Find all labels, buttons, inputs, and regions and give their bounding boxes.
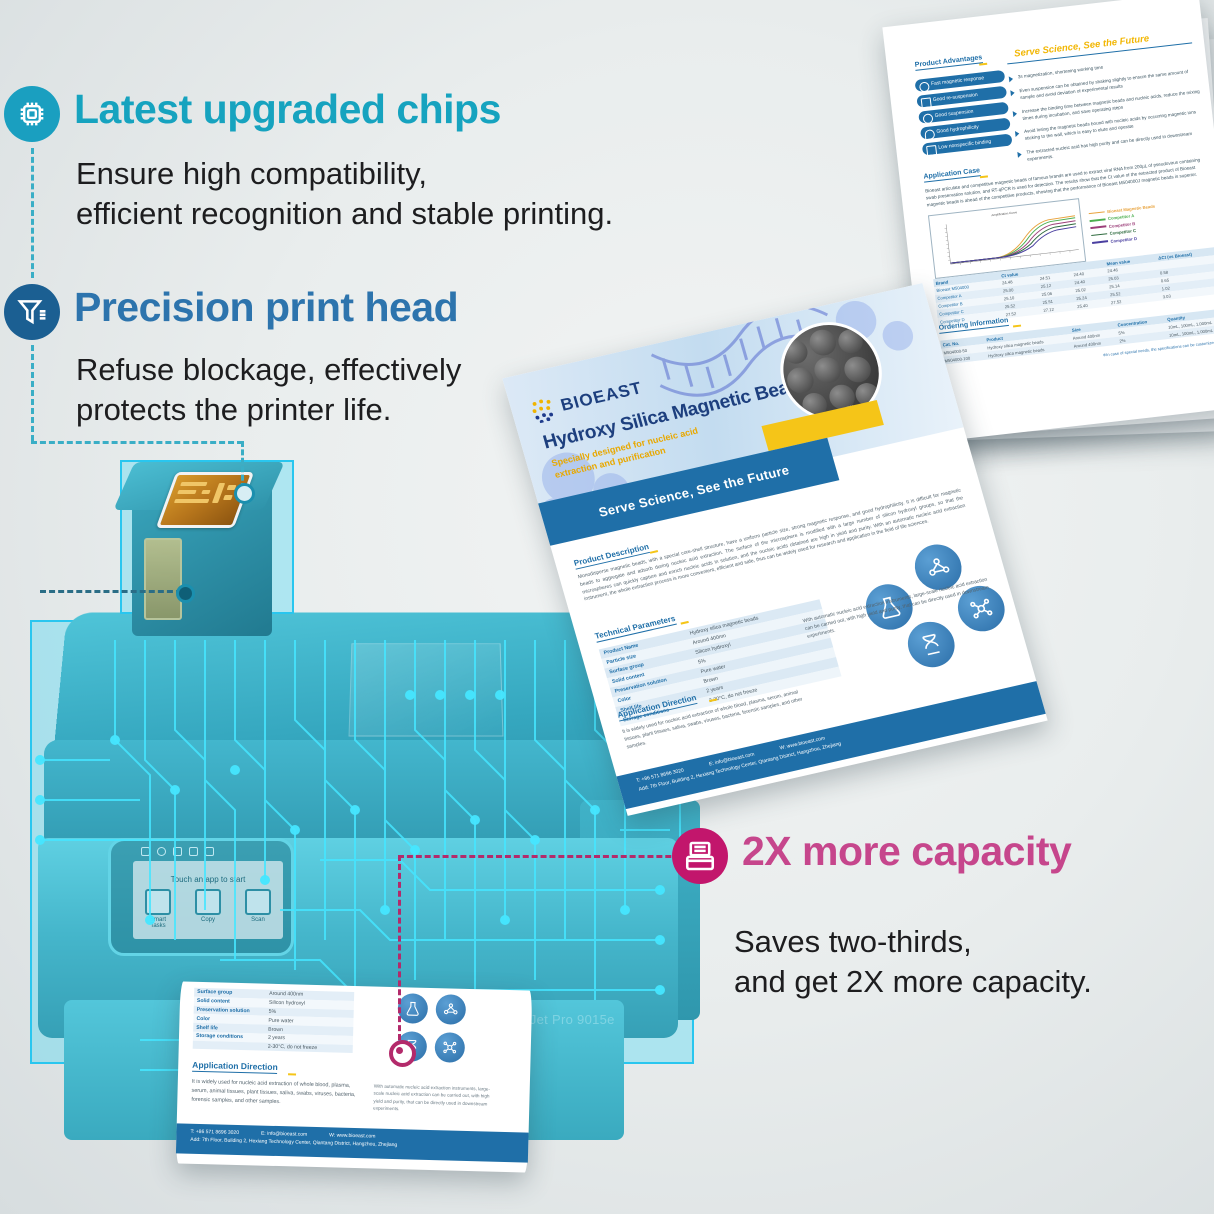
microchip-glyph: [15, 97, 49, 131]
feature-body: Refuse blockage, effectively protects th…: [76, 350, 461, 429]
connector-capacity-horizontal: [398, 855, 698, 858]
hotspot-paper-output-core: [396, 1047, 403, 1054]
printer-tray-icon: [672, 828, 728, 884]
panel-info-icon[interactable]: [157, 847, 166, 856]
scan-icon: [245, 889, 271, 915]
magnet-icon: [919, 81, 930, 92]
hotspot-cartridge-chip: [234, 483, 255, 504]
scanner-glass-seam: [349, 643, 504, 736]
section-application-case: Application Case: [923, 167, 980, 182]
section-accent-2: [980, 175, 988, 178]
connector-capacity-vertical: [398, 855, 401, 1049]
output-footer-email: E: info@bioeast.com: [261, 1131, 307, 1138]
feature-2x-more-capacity: 2X more capacity Saves two-thirds, and g…: [672, 828, 1092, 1001]
panel-wifi-icon[interactable]: [173, 847, 182, 856]
arrow-icon: [1009, 76, 1014, 82]
copy-icon: [195, 889, 221, 915]
compound-icon: [434, 1032, 465, 1063]
panel-home-icon[interactable]: [141, 847, 150, 856]
hotspot-print-nozzle: [176, 584, 195, 603]
panel-app-copy[interactable]: Copy: [193, 889, 223, 929]
arrow-icon: [1017, 152, 1022, 158]
svg-text:Amplification Curve: Amplification Curve: [991, 210, 1017, 217]
funnel-glyph: [15, 295, 49, 329]
legend-swatch: [1090, 218, 1106, 221]
feature-body: Saves two-thirds, and get 2X more capaci…: [734, 922, 1092, 1001]
printer-control-panel[interactable]: Touch an app to start Smart Tasks Copy S…: [108, 838, 294, 956]
smart-tasks-icon: [145, 889, 171, 915]
output-footer-tel: T: +86 571 8696 3020: [190, 1129, 239, 1136]
arrow-icon: [1015, 131, 1020, 137]
printed-output-sheet: Surface group Around 400nm Solid content…: [176, 981, 533, 1172]
panel-app-smart-tasks[interactable]: Smart Tasks: [143, 889, 173, 929]
connector-printhead-drop: [241, 441, 244, 489]
output-footer-web: W: www.bioeast.com: [329, 1132, 375, 1139]
hotspot-paper-output: [389, 1040, 416, 1067]
droplet-icon: [924, 129, 935, 140]
binding-icon: [926, 145, 937, 156]
section-product-advantages: Product Advantages: [914, 54, 982, 71]
connector-nozzle-horizontal: [40, 590, 182, 593]
feature-precision-print-head: Precision print head Refuse blockage, ef…: [4, 284, 461, 429]
legend-swatch: [1090, 226, 1106, 229]
panel-app-scan[interactable]: Scan: [243, 889, 273, 929]
suspension-icon: [921, 97, 932, 108]
dna-icon: [902, 617, 960, 671]
print-head-nozzle: [144, 538, 182, 620]
arrow-icon: [1010, 90, 1015, 96]
output-body-left: It is widely used for nucleic acid extra…: [191, 1078, 358, 1109]
feature-title: 2X more capacity: [742, 831, 1071, 872]
section-accent-tech: [681, 621, 689, 625]
output-section-title: Application Direction: [192, 1060, 278, 1074]
panel-screen-title: Touch an app to start: [133, 875, 283, 884]
section-accent-desc: [650, 550, 658, 554]
chart-legend: Bioeast Magnetic Beads Competitor A Comp…: [1088, 204, 1158, 248]
output-section-accent: [288, 1073, 296, 1075]
arrow-icon: [1013, 110, 1018, 116]
legend-swatch: [1089, 211, 1105, 214]
panel-settings-icon[interactable]: [205, 847, 214, 856]
connector-printhead-horizontal: [31, 441, 243, 444]
output-body-right: With automatic nucleic acid extraction i…: [373, 1083, 494, 1116]
microchip-icon: [4, 86, 60, 142]
advantages-list: Fast magnetic response Good re-suspensio…: [915, 70, 1013, 160]
feature-title: Latest upgraded chips: [74, 89, 501, 130]
wave-icon: [922, 113, 933, 124]
legend-swatch: [1092, 240, 1108, 243]
feature-body: Ensure high compatibility, efficient rec…: [76, 154, 613, 233]
legend-swatch: [1091, 233, 1107, 236]
funnel-filter-icon: [4, 284, 60, 340]
molecule-icon: [435, 994, 466, 1025]
infographic-canvas: Touch an app to start Smart Tasks Copy S…: [0, 0, 1214, 1214]
flask-icon: [397, 993, 428, 1024]
output-footer: T: +86 571 8696 3020 E: info@bioeast.com…: [176, 1123, 529, 1162]
printer-tray-glyph: [683, 839, 717, 873]
section-accent-1: [979, 63, 987, 66]
feature-latest-upgraded-chips: Latest upgraded chips Ensure high compat…: [4, 86, 613, 233]
advantages-details: 3s magnetization, shortening working tim…: [1009, 54, 1208, 165]
panel-ink-icon[interactable]: [189, 847, 198, 856]
output-parameters-table: Surface group Around 400nm Solid content…: [193, 988, 355, 1054]
feature-title: Precision print head: [74, 287, 458, 328]
panel-screen-content: Touch an app to start Smart Tasks Copy S…: [133, 861, 283, 939]
section-accent-3: [1013, 325, 1021, 328]
